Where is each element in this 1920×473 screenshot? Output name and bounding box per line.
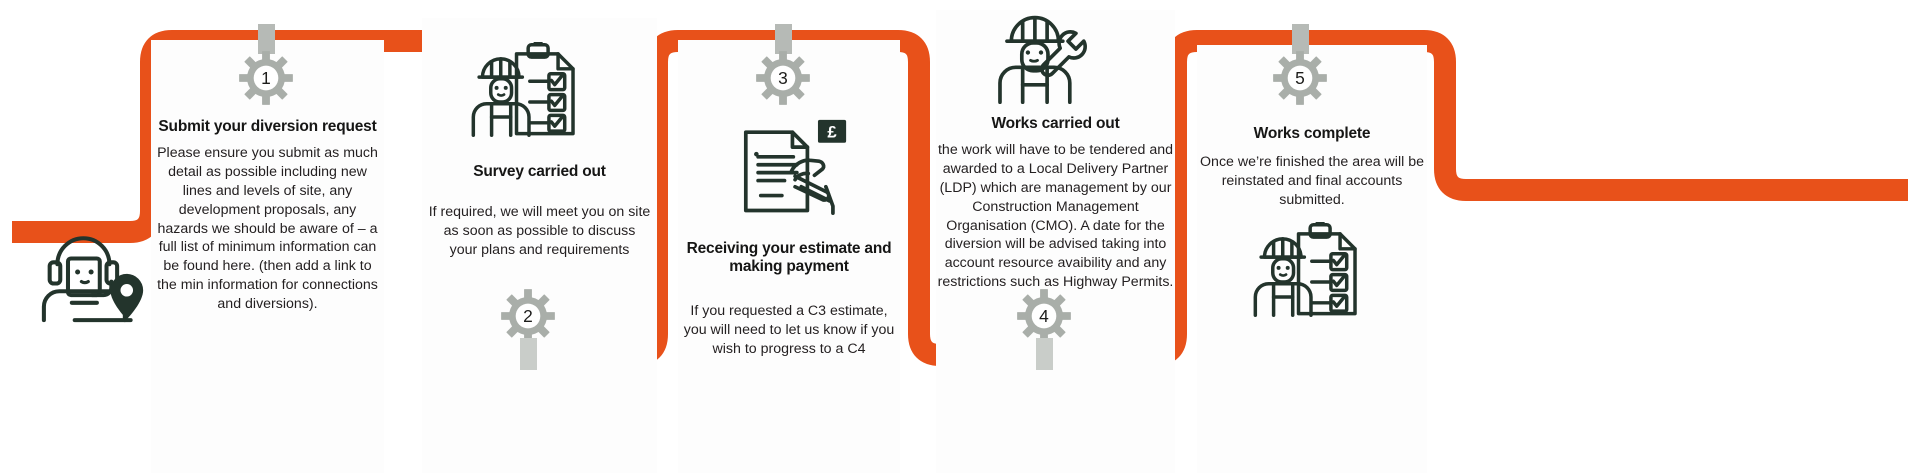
worker-clipboard-checklist-icon bbox=[1252, 222, 1360, 318]
step-1-title: Submit your diversion request bbox=[151, 118, 384, 136]
step-4-number: 4 bbox=[1039, 306, 1049, 326]
step-3-number: 3 bbox=[778, 68, 788, 88]
signing-document-pound-icon: £ bbox=[737, 118, 847, 215]
step-5-gear-badge: 5 bbox=[1272, 50, 1328, 106]
process-flow-diagram: Submit your diversion request Please ens… bbox=[0, 0, 1920, 473]
pound-symbol: £ bbox=[827, 123, 837, 142]
surveyor-clipboard-checklist-icon bbox=[470, 42, 578, 138]
step-2-connector-nub bbox=[520, 338, 537, 370]
step-1-number: 1 bbox=[261, 68, 271, 88]
step-2-title: Survey carried out bbox=[422, 163, 657, 181]
step-4-connector-nub bbox=[1036, 338, 1053, 370]
step-1-body: Please ensure you submit as much detail … bbox=[155, 144, 380, 314]
step-5-number: 5 bbox=[1295, 68, 1305, 88]
step-2-body: If required, we will meet you on site as… bbox=[428, 203, 651, 260]
step-2-gear-badge: 2 bbox=[500, 288, 556, 344]
step-4-gear-badge: 4 bbox=[1016, 288, 1072, 344]
step-4-title: Works carried out bbox=[936, 115, 1175, 133]
step-3-title: Receiving your estimate and making payme… bbox=[678, 240, 900, 277]
step-3-gear-badge: 3 bbox=[755, 50, 811, 106]
step-4-body: the work will have to be tendered and aw… bbox=[936, 141, 1175, 292]
step-1-gear-badge: 1 bbox=[238, 50, 294, 106]
step-5-title: Works complete bbox=[1197, 125, 1427, 143]
step-3-body: If you requested a C3 estimate, you will… bbox=[680, 302, 898, 359]
headset-agent-location-icon bbox=[36, 218, 152, 324]
step-5-body: Once we’re finished the area will be rei… bbox=[1197, 153, 1427, 210]
worker-wrench-icon bbox=[993, 8, 1089, 104]
step-2-number: 2 bbox=[523, 306, 533, 326]
